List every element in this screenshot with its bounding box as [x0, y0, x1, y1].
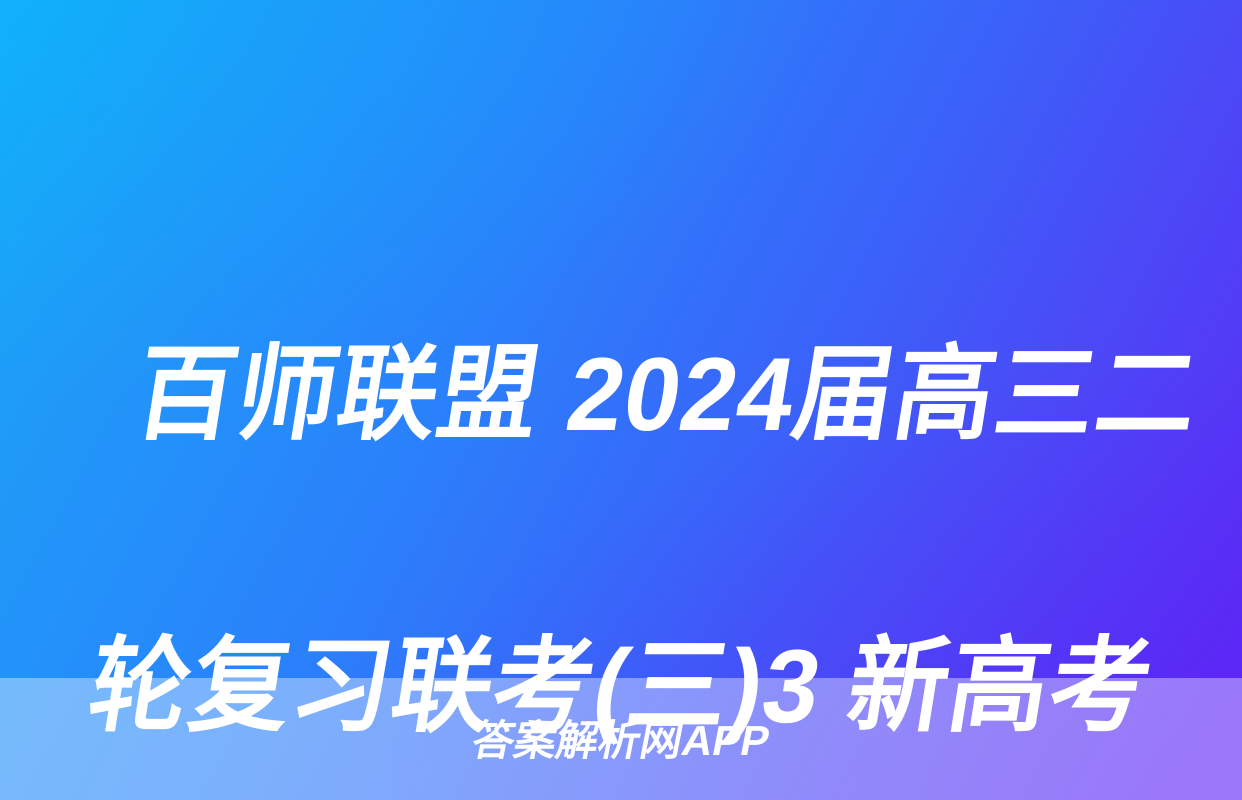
poster-canvas: 百师联盟 2024届高三二 轮复习联考(三)3 新高考 卷数学答案 答案解析网A…: [0, 0, 1242, 800]
footer-watermark-band: 答案解析网APP: [0, 678, 1242, 800]
title-line-1: 百师联盟 2024届高三二: [111, 322, 1223, 468]
app-watermark-label: 答案解析网APP: [468, 720, 773, 762]
